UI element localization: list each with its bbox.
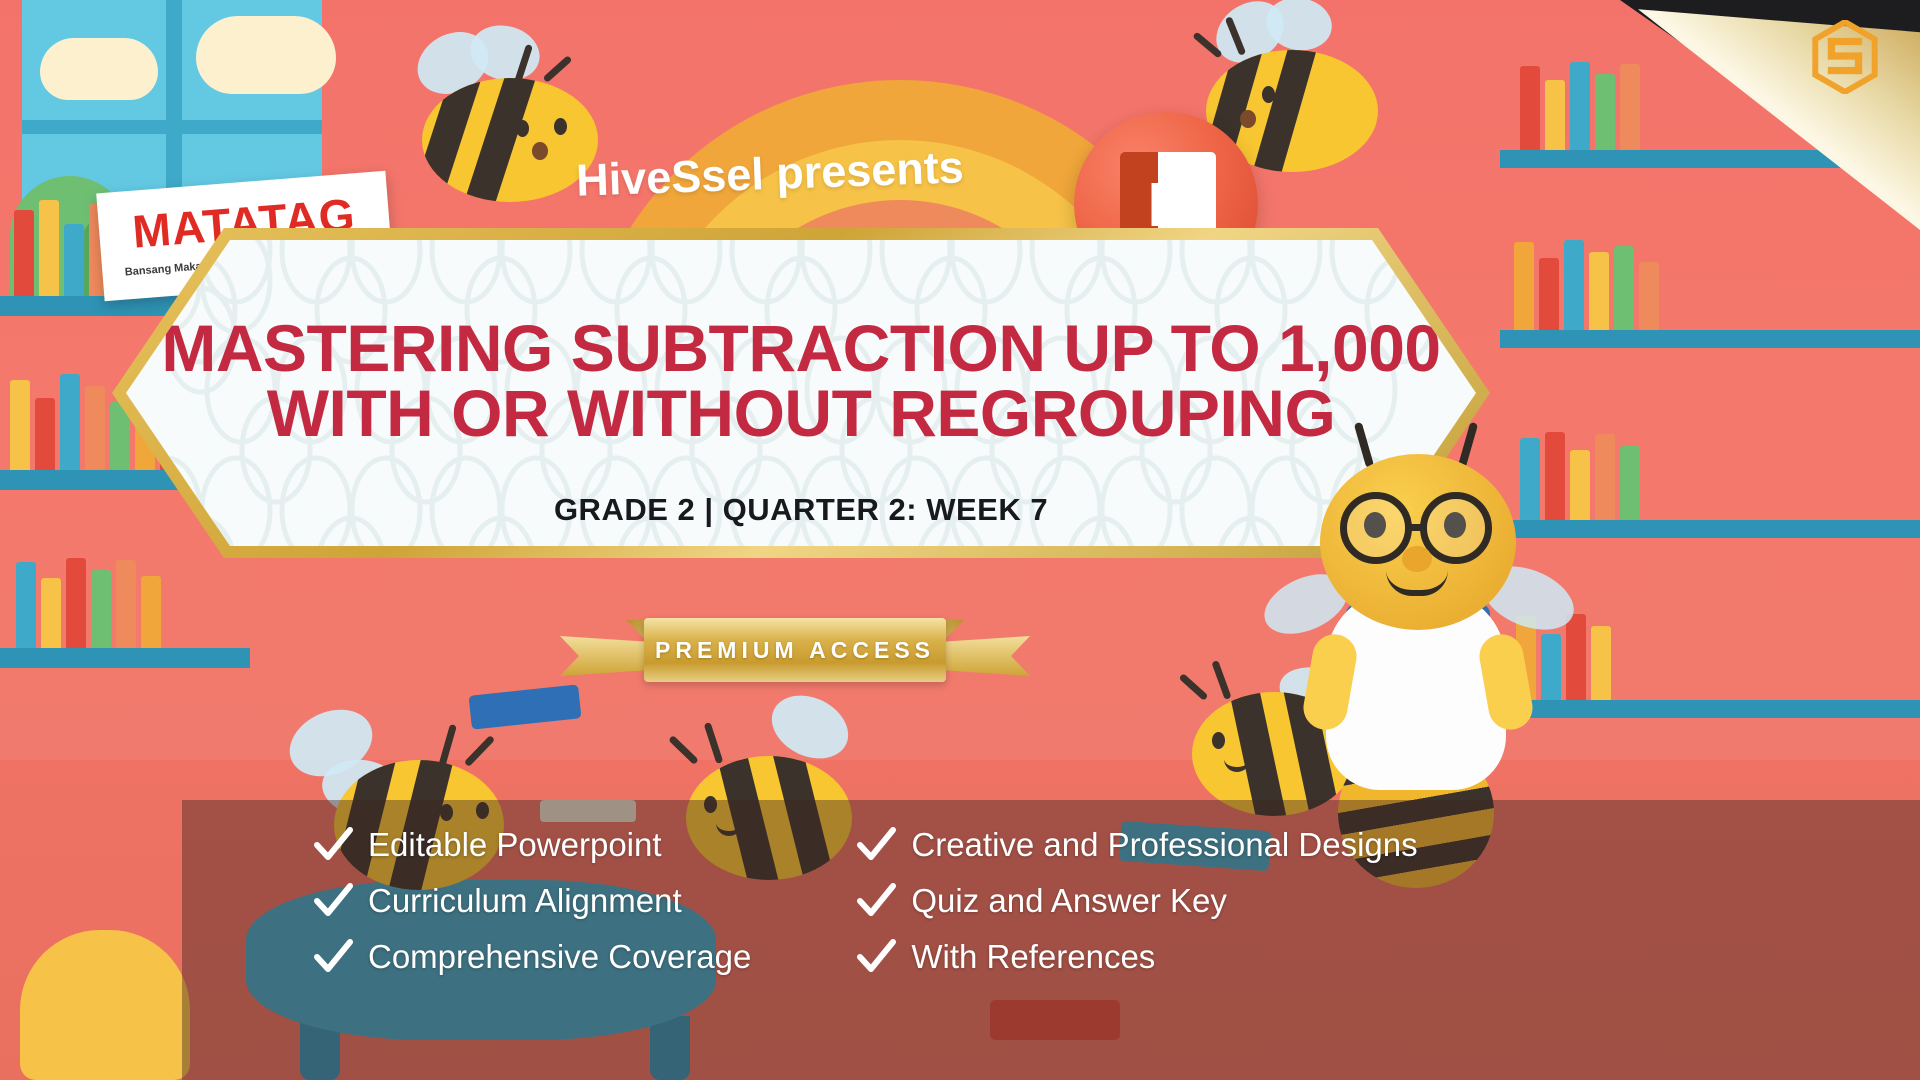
- features-overlay-bar: Editable Powerpoint Curriculum Alignment…: [182, 800, 1920, 1080]
- premium-access-label: PREMIUM ACCESS: [655, 637, 935, 664]
- feature-label: Creative and Professional Designs: [911, 826, 1417, 864]
- check-mark-icon: [855, 880, 897, 922]
- features-left-column: Editable Powerpoint Curriculum Alignment…: [312, 824, 751, 1080]
- check-mark-icon: [312, 824, 354, 866]
- promo-poster: P MATATAG Bansang Makabata Batang Makaba…: [0, 0, 1920, 1080]
- hive-hexagon-logo-icon: [1812, 20, 1878, 94]
- feature-item: Editable Powerpoint: [312, 824, 751, 866]
- feature-item: Curriculum Alignment: [312, 880, 751, 922]
- ribbon-tail-left: [560, 636, 646, 676]
- feature-label: Curriculum Alignment: [368, 882, 682, 920]
- check-mark-icon: [312, 936, 354, 978]
- feature-label: With References: [911, 938, 1155, 976]
- premium-access-ribbon: PREMIUM ACCESS: [560, 612, 1030, 690]
- feature-item: Comprehensive Coverage: [312, 936, 751, 978]
- check-mark-icon: [855, 824, 897, 866]
- check-mark-icon: [855, 936, 897, 978]
- feature-label: Quiz and Answer Key: [911, 882, 1227, 920]
- ribbon-tail-right: [944, 636, 1030, 676]
- feature-item: With References: [855, 936, 1417, 978]
- ribbon-body: PREMIUM ACCESS: [644, 618, 946, 682]
- check-mark-icon: [312, 880, 354, 922]
- feature-label: Editable Powerpoint: [368, 826, 662, 864]
- feature-item: Creative and Professional Designs: [855, 824, 1417, 866]
- feature-item: Quiz and Answer Key: [855, 880, 1417, 922]
- features-right-column: Creative and Professional Designs Quiz a…: [855, 824, 1417, 1080]
- stool-decor: [20, 930, 190, 1080]
- feature-label: Comprehensive Coverage: [368, 938, 751, 976]
- title-line-1: MASTERING SUBTRACTION UP TO 1,000: [161, 311, 1440, 385]
